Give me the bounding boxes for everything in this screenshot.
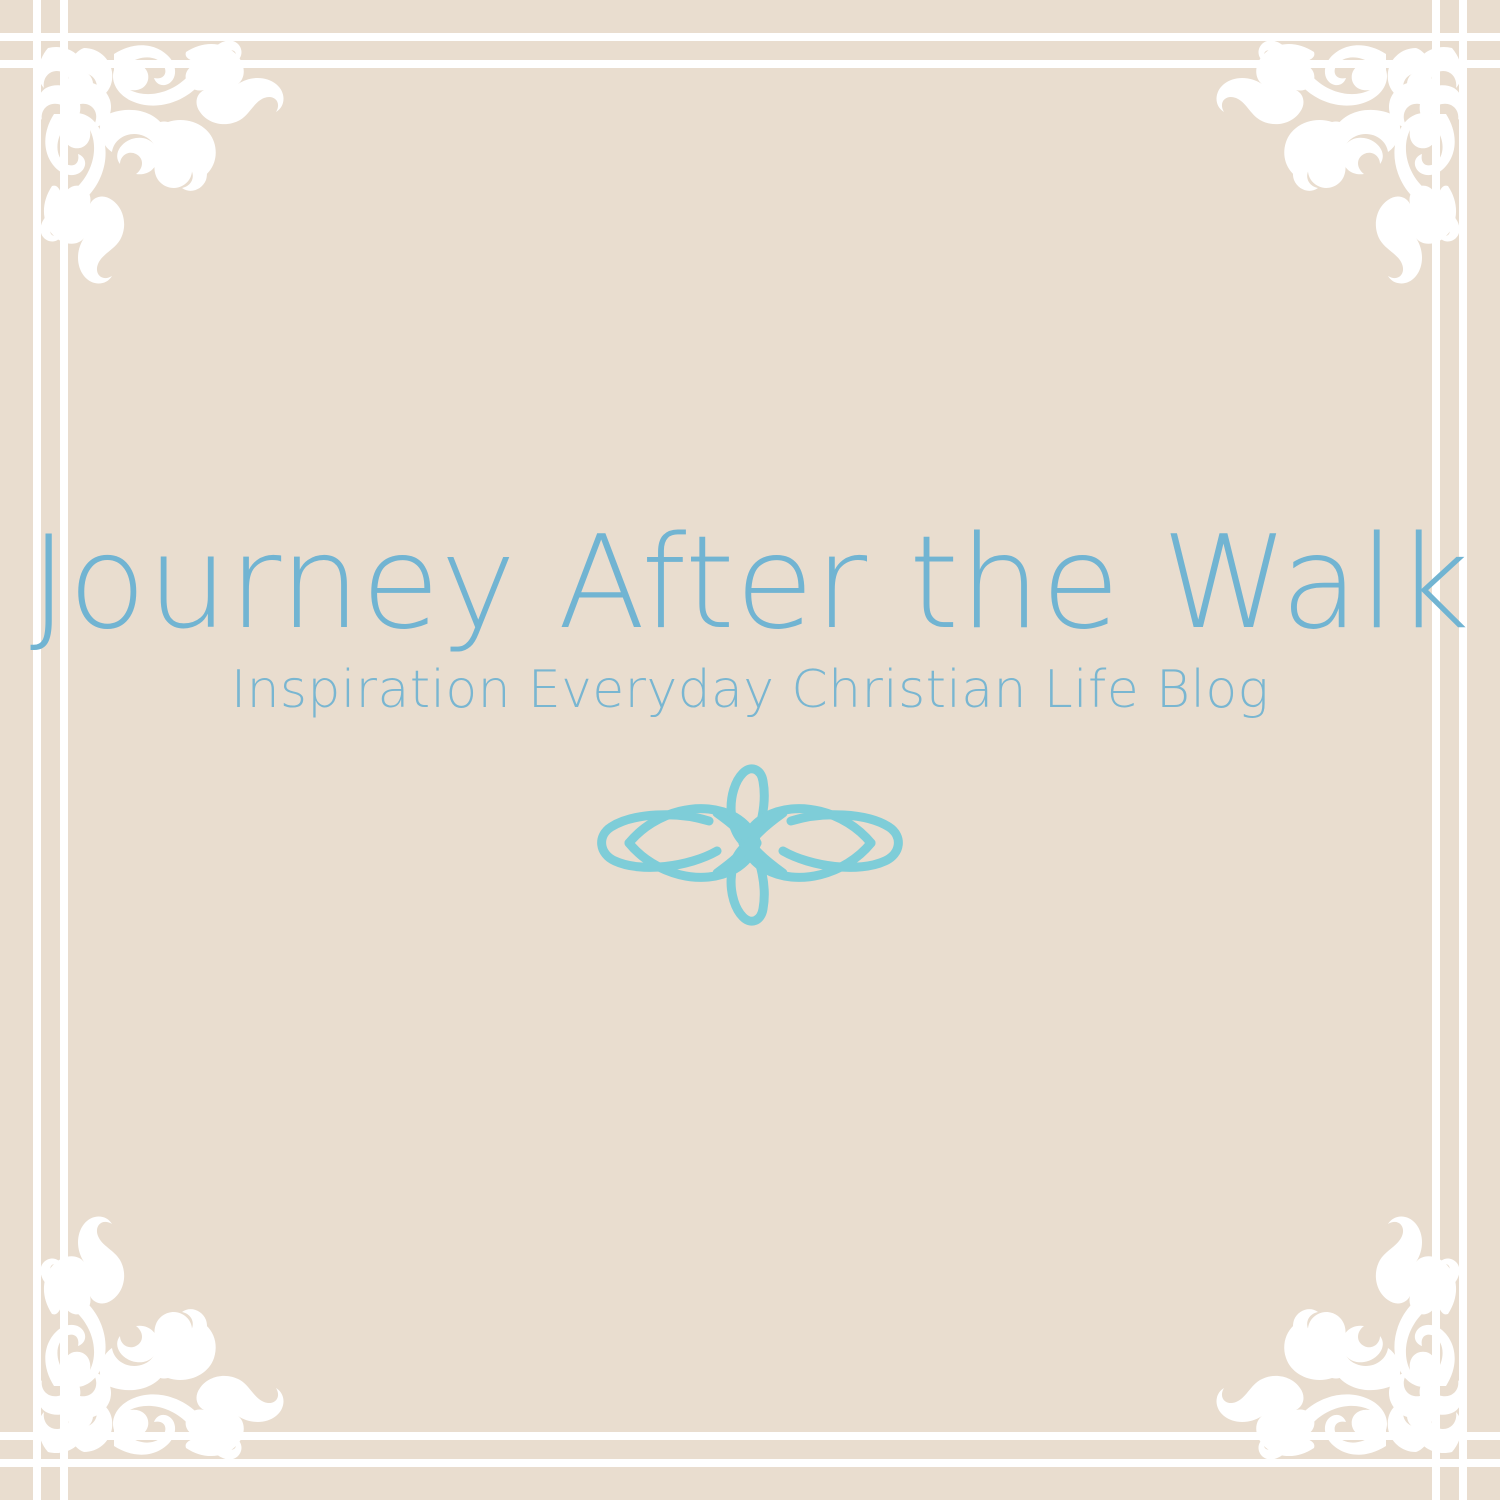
frame-rule-top-outer	[0, 33, 1500, 41]
logo-canvas: Journey After the Walk Inspiration Every…	[0, 0, 1500, 1500]
frame-rule-bottom-inner	[0, 1432, 1500, 1440]
frame-rule-top-inner	[0, 60, 1500, 68]
flourish-container	[0, 755, 1500, 935]
brand-block: Journey After the Walk Inspiration Every…	[0, 520, 1500, 935]
page-subtitle: Inspiration Everyday Christian Life Blog	[0, 662, 1500, 719]
calligraphic-knot-flourish-icon	[585, 755, 915, 935]
frame-rule-bottom-outer	[0, 1459, 1500, 1467]
page-title: Journey After the Walk	[0, 520, 1500, 648]
